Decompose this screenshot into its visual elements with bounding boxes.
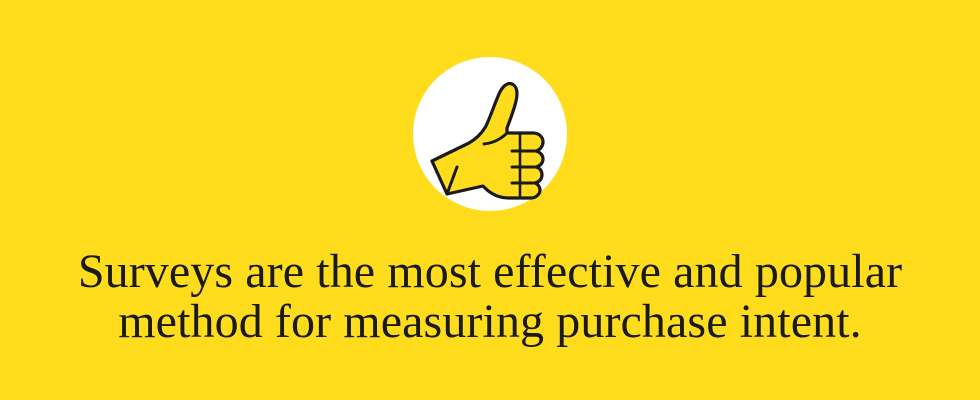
page-title: Surveys are the most effective and popul… [0, 247, 980, 347]
thumbs-up-badge [413, 57, 567, 211]
headline-line-1: Surveys are the most effective and popul… [30, 247, 950, 297]
thumbs-up-icon [413, 57, 567, 211]
headline-line-2: method for measuring purchase intent. [30, 297, 950, 347]
promo-slide: Surveys are the most effective and popul… [0, 0, 980, 400]
